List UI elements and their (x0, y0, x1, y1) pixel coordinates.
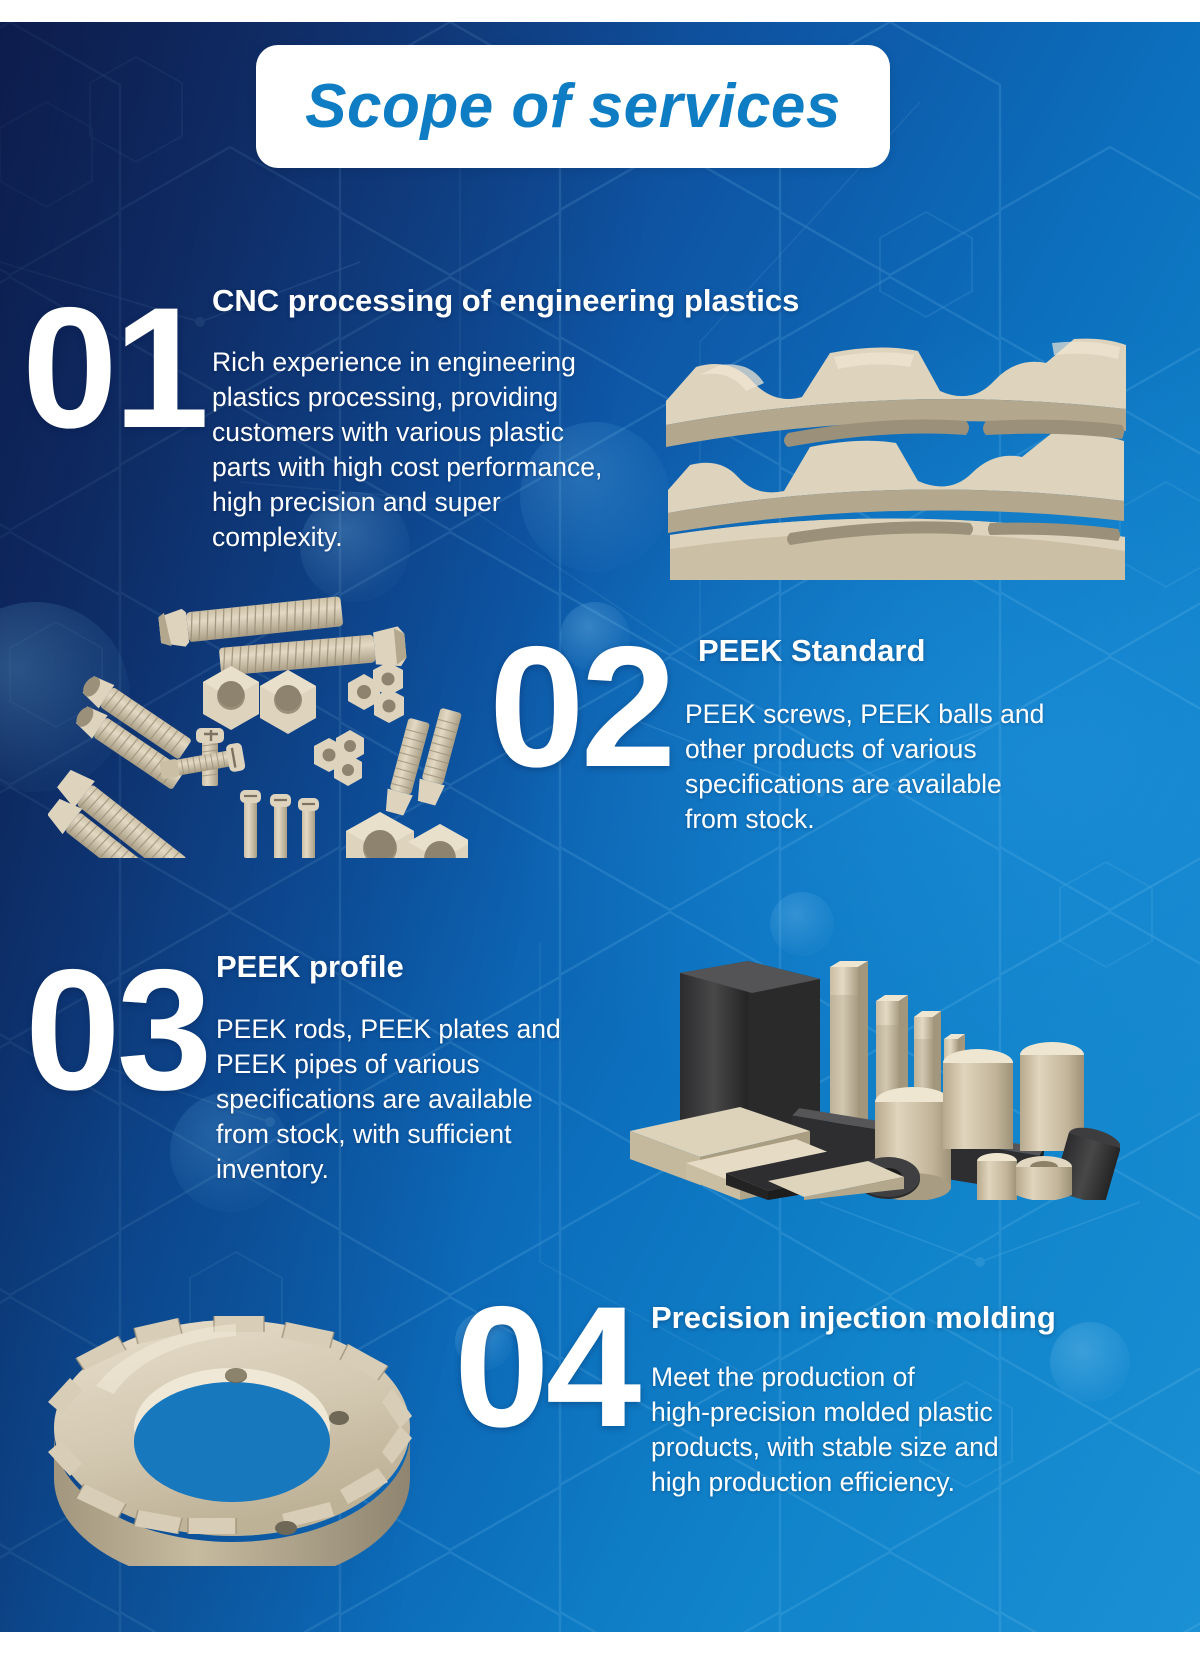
section-body-04: Meet the production of high-precision mo… (651, 1360, 1091, 1500)
section-heading-02: PEEK Standard (698, 633, 925, 669)
title-plate: Scope of services (256, 45, 890, 168)
section-body-02: PEEK screws, PEEK balls and other produc… (685, 697, 1105, 837)
section-heading-01: CNC processing of engineering plastics (212, 283, 799, 319)
section-body-01: Rich experience in engineering plastics … (212, 345, 642, 555)
section-heading-04: Precision injection molding (651, 1300, 1056, 1336)
section-number-03: 03 (25, 960, 208, 1101)
scope-of-services-poster: Scope of services 01 CNC processing o (0, 0, 1200, 1675)
bokeh-circle (0, 602, 130, 792)
section-heading-03: PEEK profile (216, 949, 404, 985)
section-body-03: PEEK rods, PEEK plates and PEEK pipes of… (216, 1012, 616, 1187)
section-number-04: 04 (454, 1297, 637, 1438)
bokeh-circle (770, 892, 834, 956)
section-number-01: 01 (22, 298, 205, 439)
page-title: Scope of services (305, 71, 841, 142)
section-number-02: 02 (489, 637, 672, 778)
